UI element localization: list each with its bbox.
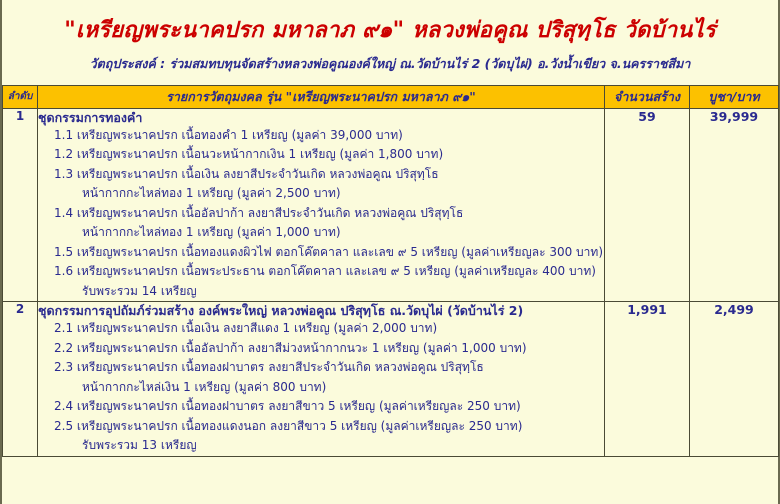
list-item: 2.2 เหรียญพระนาคปรก เนื้ออัลปาก้า ลงยาสี… [38,339,604,359]
page-subtitle: วัตถุประสงค์ : ร่วมสมทบทุนจัดสร้างหลวงพ่… [2,42,778,71]
list-item: 2.4 เหรียญพระนาคปรก เนื้อทองฝาบาตร ลงยาส… [38,397,604,417]
list-item: 1.3 เหรียญพระนาคปรก เนื้อเงิน ลงยาสีประจ… [38,165,604,185]
item-total: รับพระรวม 14 เหรียญ [38,282,604,302]
column-header-quantity: จำนวนสร้าง [605,85,690,108]
list-item: 1.6 เหรียญพระนาคปรก เนื้อพระประธาน ตอกโค… [38,262,604,282]
list-item: หน้ากากกะไหล่เงิน 1 เหรียญ (มูลค่า 800 บ… [38,378,604,398]
item-list: 2.1 เหรียญพระนาคปรก เนื้อเงิน ลงยาสีแดง … [38,319,604,456]
list-item: 2.5 เหรียญพระนาคปรก เนื้อทองแดงนอก ลงยาส… [38,417,604,437]
list-item: 1.4 เหรียญพระนาคปรก เนื้ออัลปาก้า ลงยาสี… [38,204,604,224]
row-number: 1 [3,108,38,302]
item-total: รับพระรวม 13 เหรียญ [38,436,604,456]
document-page: "เหรียญพระนาคปรก มหาลาภ ๙๑" หลวงพ่อคูณ ป… [0,0,780,504]
column-header-description: รายการวัตถุมงคล รุ่น "เหรียญพระนาคปรก มห… [38,85,605,108]
table-row: 1ชุดกรรมการทองคำ1.1 เหรียญพระนาคปรก เนื้… [3,108,779,302]
group-title: ชุดกรรมการทองคำ [38,109,604,126]
list-item: 2.1 เหรียญพระนาคปรก เนื้อเงิน ลงยาสีแดง … [38,319,604,339]
column-header-no: ลำดับ [3,85,38,108]
column-header-price: บูชา/บาท [690,85,779,108]
table-header: ลำดับ รายการวัตถุมงคล รุ่น "เหรียญพระนาค… [3,85,779,108]
group-title: ชุดกรรมการอุปถัมภ์ร่วมสร้าง องค์พระใหญ่ … [38,302,604,319]
row-number: 2 [3,302,38,457]
list-item: 1.5 เหรียญพระนาคปรก เนื้อทองแดงผิวไฟ ตอก… [38,243,604,263]
row-quantity: 59 [605,108,690,302]
list-item: 1.1 เหรียญพระนาคปรก เนื้อทองคำ 1 เหรียญ … [38,126,604,146]
table-row: 2ชุดกรรมการอุปถัมภ์ร่วมสร้าง องค์พระใหญ่… [3,302,779,457]
page-title: "เหรียญพระนาคปรก มหาลาภ ๙๑" หลวงพ่อคูณ ป… [2,0,778,42]
table-header-row: ลำดับ รายการวัตถุมงคล รุ่น "เหรียญพระนาค… [3,85,779,108]
list-item: 1.2 เหรียญพระนาคปรก เนื้อนวะหน้ากากเงิน … [38,145,604,165]
list-item: หน้ากากกะไหล่ทอง 1 เหรียญ (มูลค่า 1,000 … [38,223,604,243]
row-description: ชุดกรรมการทองคำ1.1 เหรียญพระนาคปรก เนื้อ… [38,108,605,302]
list-item: 2.3 เหรียญพระนาคปรก เนื้อทองฝาบาตร ลงยาส… [38,358,604,378]
row-price: 2,499 [690,302,779,457]
row-price: 39,999 [690,108,779,302]
list-item: หน้ากากกะไหล่ทอง 1 เหรียญ (มูลค่า 2,500 … [38,184,604,204]
table-body: 1ชุดกรรมการทองคำ1.1 เหรียญพระนาคปรก เนื้… [3,108,779,456]
product-table: ลำดับ รายการวัตถุมงคล รุ่น "เหรียญพระนาค… [2,85,779,457]
item-list: 1.1 เหรียญพระนาคปรก เนื้อทองคำ 1 เหรียญ … [38,126,604,302]
row-quantity: 1,991 [605,302,690,457]
row-description: ชุดกรรมการอุปถัมภ์ร่วมสร้าง องค์พระใหญ่ … [38,302,605,457]
